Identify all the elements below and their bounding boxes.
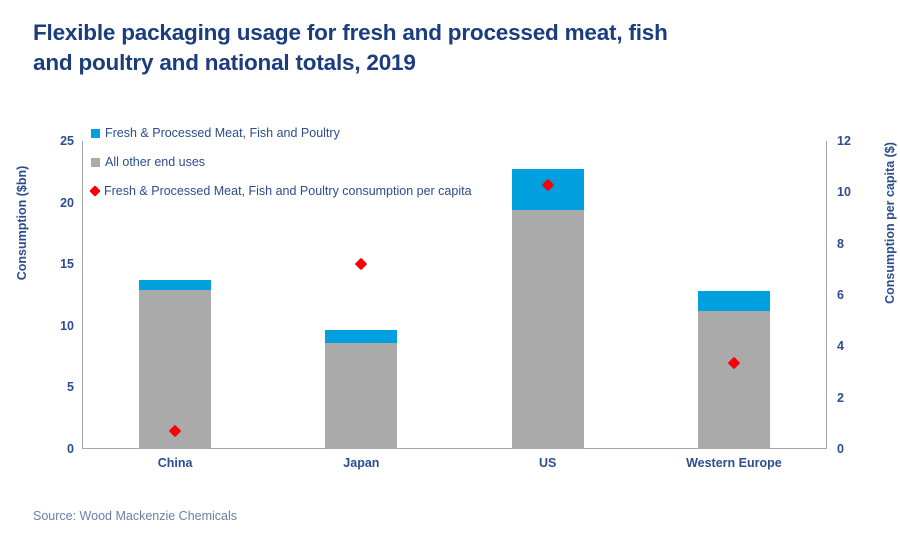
y-axis-left-tick: 5 [67, 380, 74, 394]
legend-square-icon [91, 129, 100, 138]
bar-segment[interactable] [325, 343, 397, 449]
legend-item[interactable]: Fresh & Processed Meat, Fish and Poultry… [91, 184, 472, 198]
y-axis-right-ticks: 024681012 [837, 141, 867, 449]
y-axis-right-tick: 0 [837, 442, 844, 456]
x-axis-category-label: Japan [343, 456, 379, 470]
legend-item-label: All other end uses [105, 155, 205, 169]
y-axis-right-tick: 6 [837, 288, 844, 302]
bar-stack[interactable] [698, 291, 770, 449]
y-axis-left-tick: 0 [67, 442, 74, 456]
y-axis-left-tick: 20 [60, 196, 74, 210]
source-note: Source: Wood Mackenzie Chemicals [33, 509, 237, 523]
y-axis-left-line [82, 141, 83, 449]
y-axis-left-tick: 10 [60, 319, 74, 333]
bar-segment[interactable] [698, 291, 770, 311]
bar-segment[interactable] [325, 330, 397, 344]
y-axis-right-tick: 12 [837, 134, 851, 148]
legend-item[interactable]: Fresh & Processed Meat, Fish and Poultry [91, 126, 340, 140]
y-axis-left-tick: 25 [60, 134, 74, 148]
x-axis-category-label: China [158, 456, 193, 470]
y-axis-right-tick: 2 [837, 391, 844, 405]
bar-segment[interactable] [139, 280, 211, 290]
data-point-diamond-icon[interactable] [355, 258, 368, 271]
bar-segment[interactable] [698, 311, 770, 449]
y-axis-right-tick: 8 [837, 237, 844, 251]
y-axis-right-tick: 10 [837, 185, 851, 199]
y-axis-left-title: Consumption ($bn) [15, 138, 29, 308]
y-axis-right-tick: 4 [837, 339, 844, 353]
bar-stack[interactable] [512, 169, 584, 449]
y-axis-right-line [826, 141, 827, 449]
page-title: Flexible packaging usage for fresh and p… [33, 18, 793, 78]
y-axis-left-tick: 15 [60, 257, 74, 271]
legend-diamond-icon [89, 185, 100, 196]
legend-item[interactable]: All other end uses [91, 155, 205, 169]
legend-item-label: Fresh & Processed Meat, Fish and Poultry… [104, 184, 472, 198]
bar-segment[interactable] [512, 210, 584, 449]
bar-stack[interactable] [139, 280, 211, 449]
x-axis-category-label: US [539, 456, 556, 470]
chart-page: Flexible packaging usage for fresh and p… [0, 0, 900, 540]
y-axis-left-ticks: 0510152025 [44, 141, 74, 449]
legend-item-label: Fresh & Processed Meat, Fish and Poultry [105, 126, 340, 140]
bar-stack[interactable] [325, 330, 397, 450]
x-axis-category-label: Western Europe [686, 456, 782, 470]
legend-square-icon [91, 158, 100, 167]
y-axis-right-title: Consumption per capita ($) [883, 128, 897, 318]
